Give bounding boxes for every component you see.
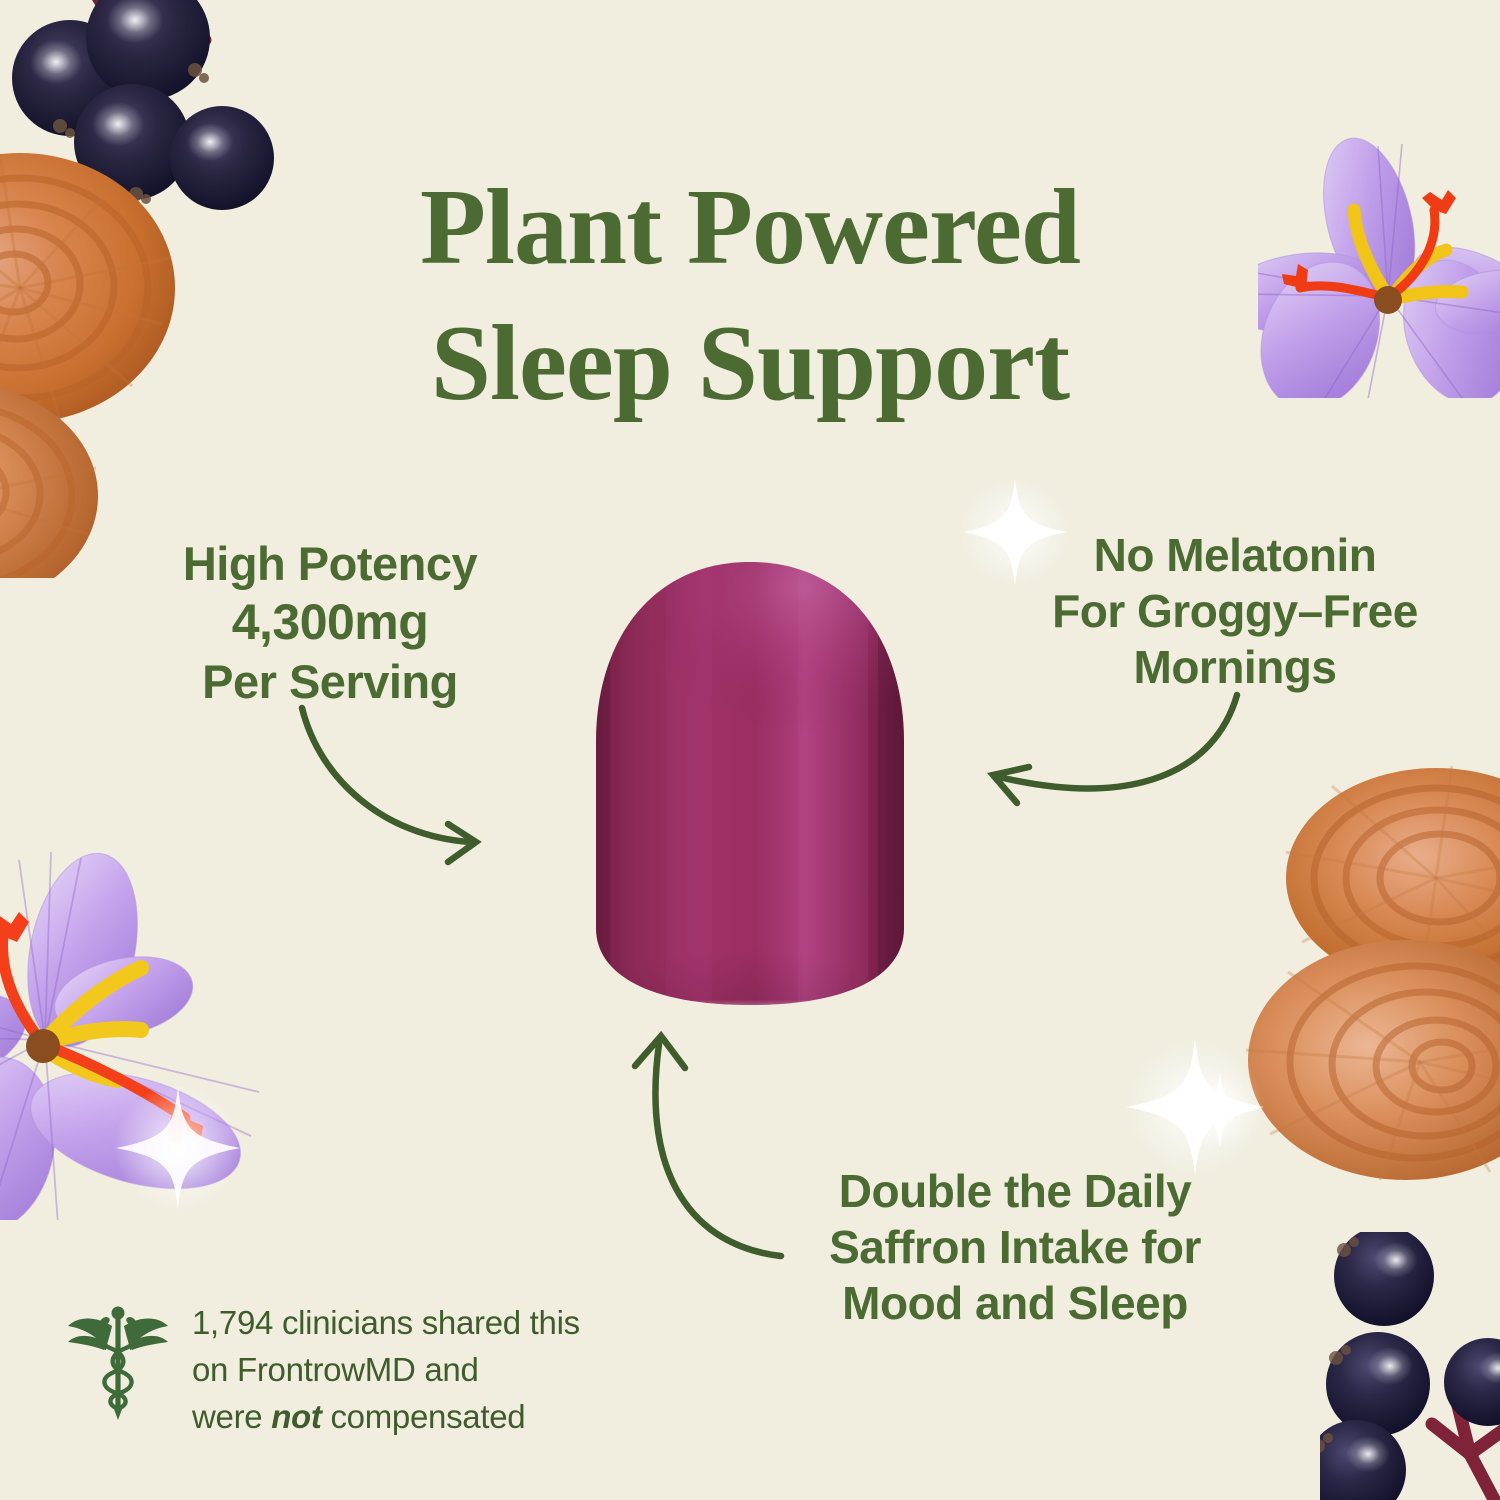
callout-double-saffron-line-1: Double the Daily bbox=[790, 1163, 1240, 1219]
caduceus-icon bbox=[66, 1304, 170, 1420]
curved-arrow-icon bbox=[280, 690, 510, 880]
sleep-gummy-image bbox=[548, 556, 952, 1011]
curved-arrow-icon bbox=[975, 675, 1245, 820]
reishi-mushroom-icon bbox=[1240, 760, 1500, 1190]
disclaimer-emphasis: not bbox=[271, 1398, 321, 1435]
callout-no-melatonin-line-1: No Melatonin bbox=[1020, 527, 1450, 583]
callout-high-potency: High Potency 4,300mg Per Serving bbox=[120, 535, 540, 711]
page-title: Plant Powered Sleep Support bbox=[0, 160, 1500, 432]
disclaimer-line-3: were not compensated bbox=[192, 1394, 580, 1441]
disclaimer-line-3-pre: were bbox=[192, 1398, 271, 1435]
elderberry-cluster-icon bbox=[1320, 1232, 1500, 1500]
saffron-crocus-icon bbox=[0, 830, 285, 1220]
callout-double-saffron-line-2: Saffron Intake for bbox=[790, 1219, 1240, 1275]
callout-double-saffron-line-3: Mood and Sleep bbox=[790, 1275, 1240, 1331]
clinician-disclaimer-text: 1,794 clinicians shared this on Frontrow… bbox=[192, 1300, 580, 1441]
page-title-line-1: Plant Powered bbox=[0, 160, 1500, 296]
clinician-disclaimer: 1,794 clinicians shared this on Frontrow… bbox=[66, 1300, 666, 1441]
disclaimer-line-2: on FrontrowMD and bbox=[192, 1347, 580, 1394]
callout-high-potency-line-1: High Potency bbox=[120, 535, 540, 592]
callout-double-saffron: Double the Daily Saffron Intake for Mood… bbox=[790, 1163, 1240, 1331]
product-infographic: Plant Powered Sleep Support bbox=[0, 0, 1500, 1500]
callout-no-melatonin: No Melatonin For Groggy–Free Mornings bbox=[1020, 527, 1450, 695]
page-title-line-2: Sleep Support bbox=[0, 296, 1500, 432]
disclaimer-line-1: 1,794 clinicians shared this bbox=[192, 1300, 580, 1347]
callout-no-melatonin-line-2: For Groggy–Free bbox=[1020, 583, 1450, 639]
callout-no-melatonin-line-3: Mornings bbox=[1020, 639, 1450, 695]
callout-high-potency-line-3: Per Serving bbox=[120, 653, 540, 710]
callout-high-potency-dosage: 4,300mg bbox=[120, 592, 540, 653]
disclaimer-line-3-post: compensated bbox=[322, 1398, 526, 1435]
